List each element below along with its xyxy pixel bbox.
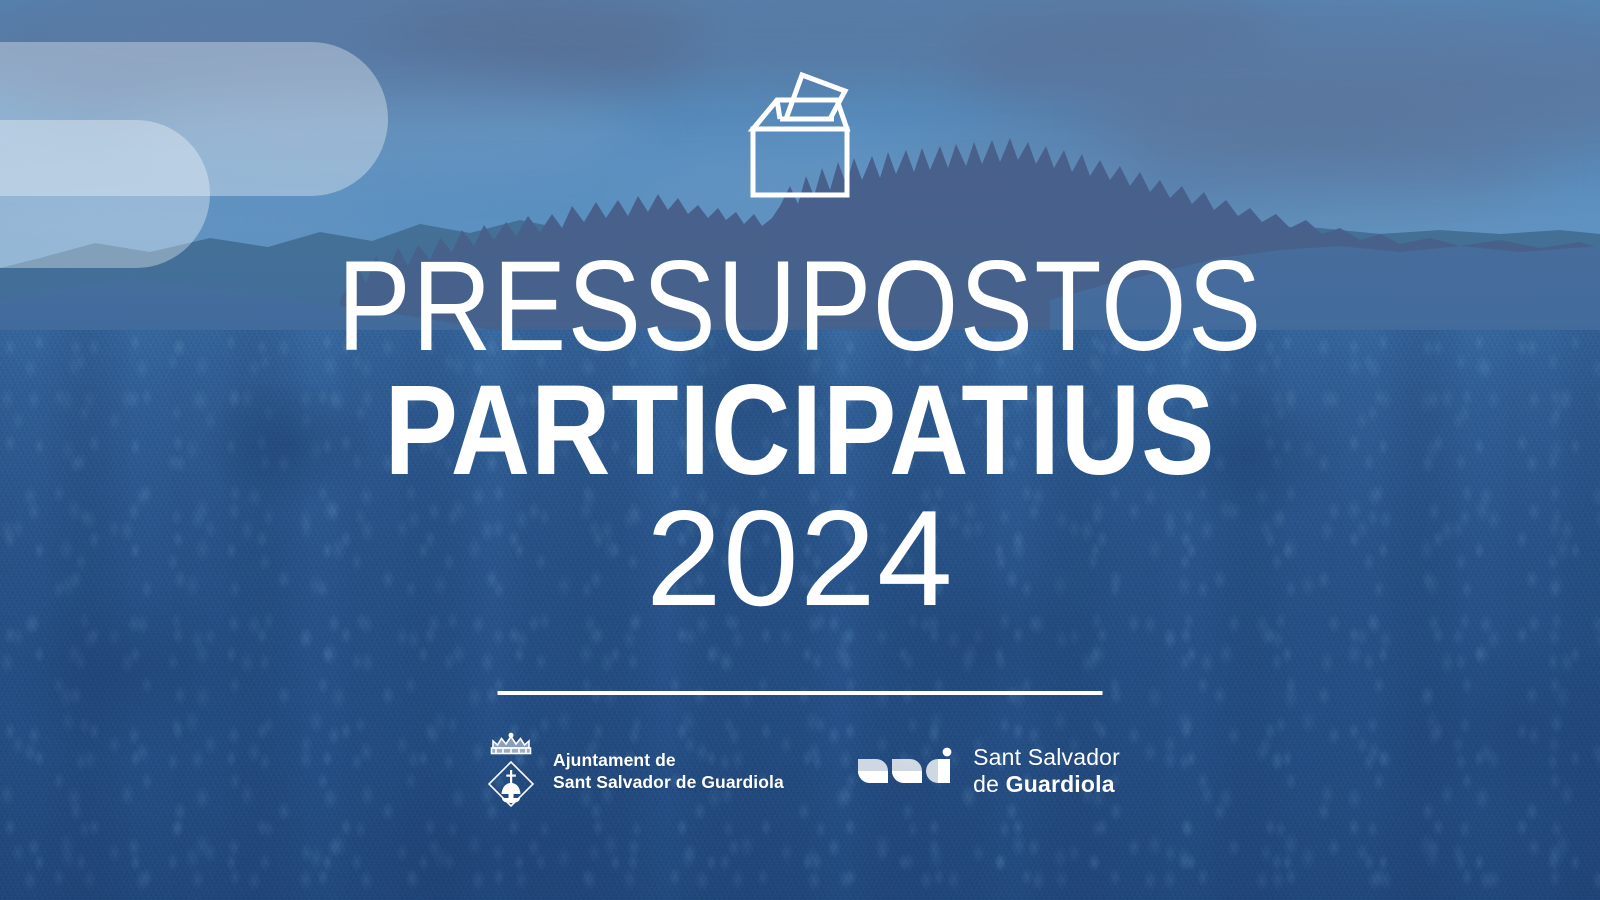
divider xyxy=(498,691,1103,695)
ssg-logo: Sant Salvador de Guardiola xyxy=(856,744,1120,797)
ssg-label: Sant Salvador de Guardiola xyxy=(973,744,1120,797)
ballot-box-icon xyxy=(740,62,860,198)
ajuntament-label: Ajuntament de Sant Salvador de Guardiola xyxy=(553,749,784,794)
ssg-label-line-2: de Guardiola xyxy=(973,771,1120,798)
logo-row: Ajuntament de Sant Salvador de Guardiola xyxy=(480,726,1120,816)
poster-canvas: PRESSUPOSTOS PARTICIPATIUS 2024 xyxy=(0,0,1600,900)
crown-and-shield-crest-icon xyxy=(480,731,542,811)
ajuntament-label-line-2: Sant Salvador de Guardiola xyxy=(553,771,784,793)
ssg-label-line-2-bold: Guardiola xyxy=(1006,771,1115,797)
ajuntament-logo: Ajuntament de Sant Salvador de Guardiola xyxy=(480,731,784,811)
ssg-label-line-2-light: de xyxy=(973,771,1006,797)
ssg-monogram-icon xyxy=(856,747,960,795)
poster-content: PRESSUPOSTOS PARTICIPATIUS 2024 xyxy=(0,0,1600,900)
page-title-line-2: PARTICIPATIUS xyxy=(112,372,1488,490)
page-title-year: 2024 xyxy=(0,496,1600,621)
title-block: PRESSUPOSTOS PARTICIPATIUS 2024 xyxy=(0,248,1600,621)
ajuntament-label-line-1: Ajuntament de xyxy=(553,749,784,771)
ssg-label-line-1: Sant Salvador xyxy=(973,744,1120,771)
page-title-line-1: PRESSUPOSTOS xyxy=(112,248,1488,366)
